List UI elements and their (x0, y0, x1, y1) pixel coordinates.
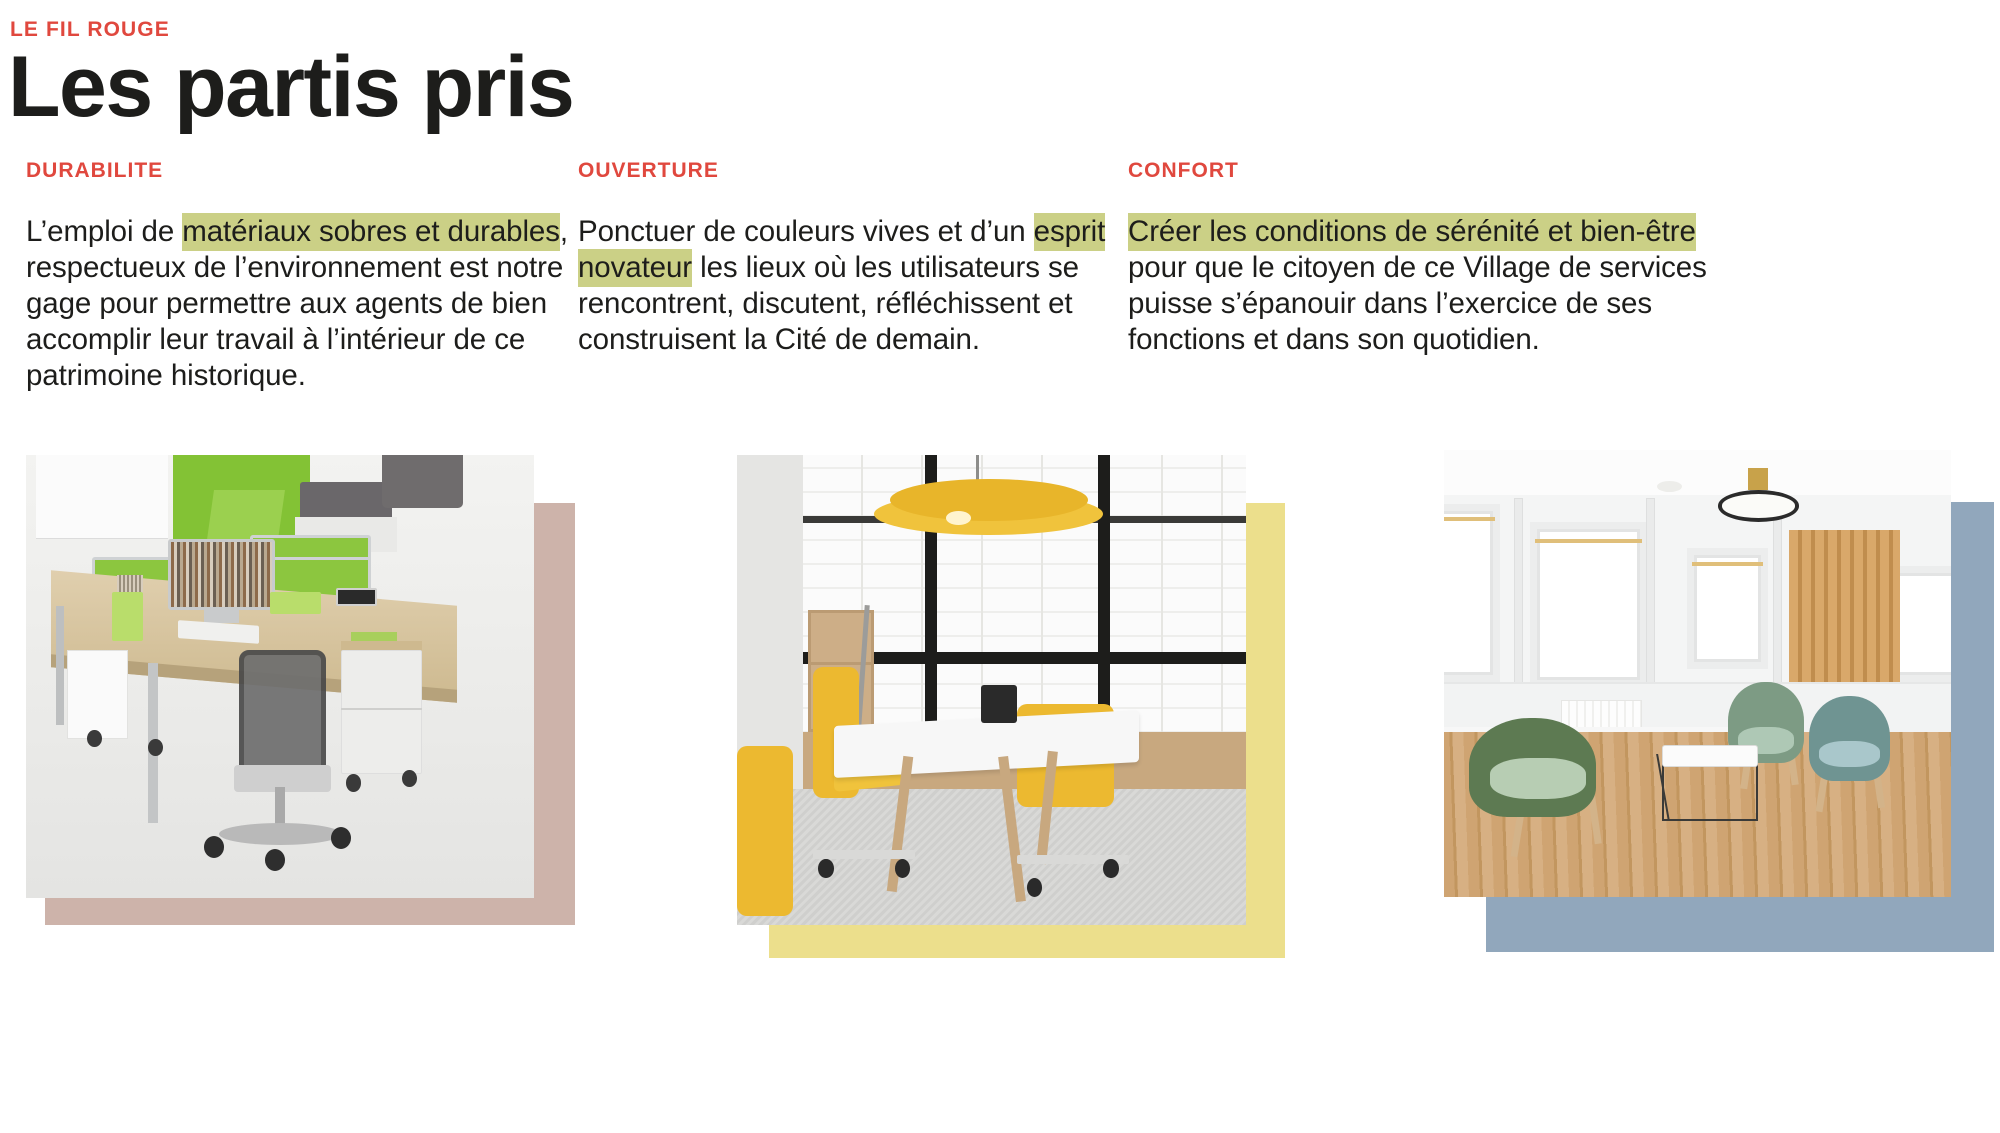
body-text-run: Ponctuer de couleurs vives et d’un (578, 215, 1034, 248)
page-title: Les partis pris (8, 44, 573, 130)
column-heading-confort: CONFORT (1128, 160, 1728, 181)
column-heading-ouverture: OUVERTURE (578, 160, 1158, 181)
body-text-run: L’emploi de (26, 215, 182, 248)
column-confort: CONFORT Créer les conditions de sérénité… (1128, 160, 1728, 358)
column-ouverture: OUVERTURE Ponctuer de couleurs vives et … (578, 160, 1158, 358)
meeting-room-yellow-chairs-photo (737, 455, 1246, 925)
highlighted-phrase: matériaux sobres et durables (182, 213, 560, 251)
column-durabilite: DURABILITE L’emploi de matériaux sobres … (26, 160, 606, 394)
column-heading-durabilite: DURABILITE (26, 160, 606, 181)
lounge-green-armchairs-photo (1444, 450, 1951, 897)
photo-block-durabilite (0, 455, 600, 975)
column-body-confort: Créer les conditions de sérénité et bien… (1128, 214, 1728, 358)
body-text-run: pour que le citoyen de ce Village de ser… (1128, 251, 1707, 356)
column-body-durabilite: L’emploi de matériaux sobres et durables… (26, 214, 606, 394)
photo-block-ouverture (578, 455, 1298, 975)
column-body-ouverture: Ponctuer de couleurs vives et d’un espri… (578, 214, 1158, 358)
highlighted-phrase: Créer les conditions de sérénité et bien… (1128, 213, 1696, 251)
open-plan-office-desk-photo (26, 455, 534, 898)
